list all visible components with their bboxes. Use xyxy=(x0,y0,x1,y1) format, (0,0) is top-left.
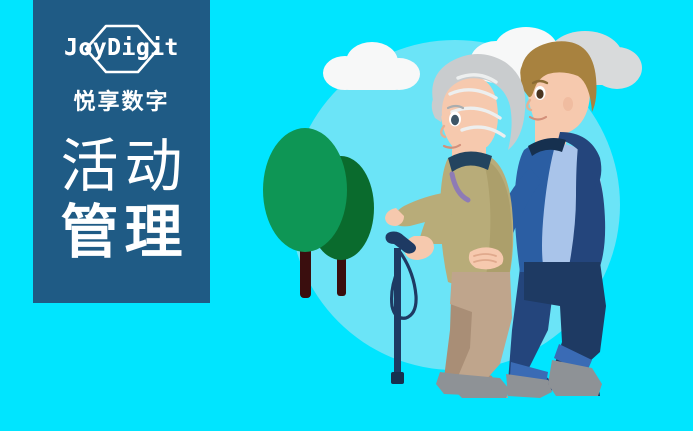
title-panel: JoyDigit 悦享数字 活动 管理 xyxy=(33,0,210,303)
brand-name-cn: 悦享数字 xyxy=(33,84,210,116)
page-title-line-1: 活动 xyxy=(33,134,210,198)
brand-block: JoyDigit 悦享数字 xyxy=(33,24,210,116)
cane-tip xyxy=(391,372,404,384)
page-title-line-2: 管理 xyxy=(33,200,210,264)
poster-banner: JoyDigit 悦享数字 活动 管理 xyxy=(0,0,693,431)
man-ear xyxy=(563,97,573,111)
brand-logo: JoyDigit xyxy=(47,24,197,74)
man-eye-pupil xyxy=(536,89,543,99)
page-title: 活动 管理 xyxy=(33,134,210,264)
brand-wordmark: JoyDigit xyxy=(47,35,197,61)
woman-clasped-hand xyxy=(469,247,503,269)
woman-eye-pupil xyxy=(451,115,459,125)
